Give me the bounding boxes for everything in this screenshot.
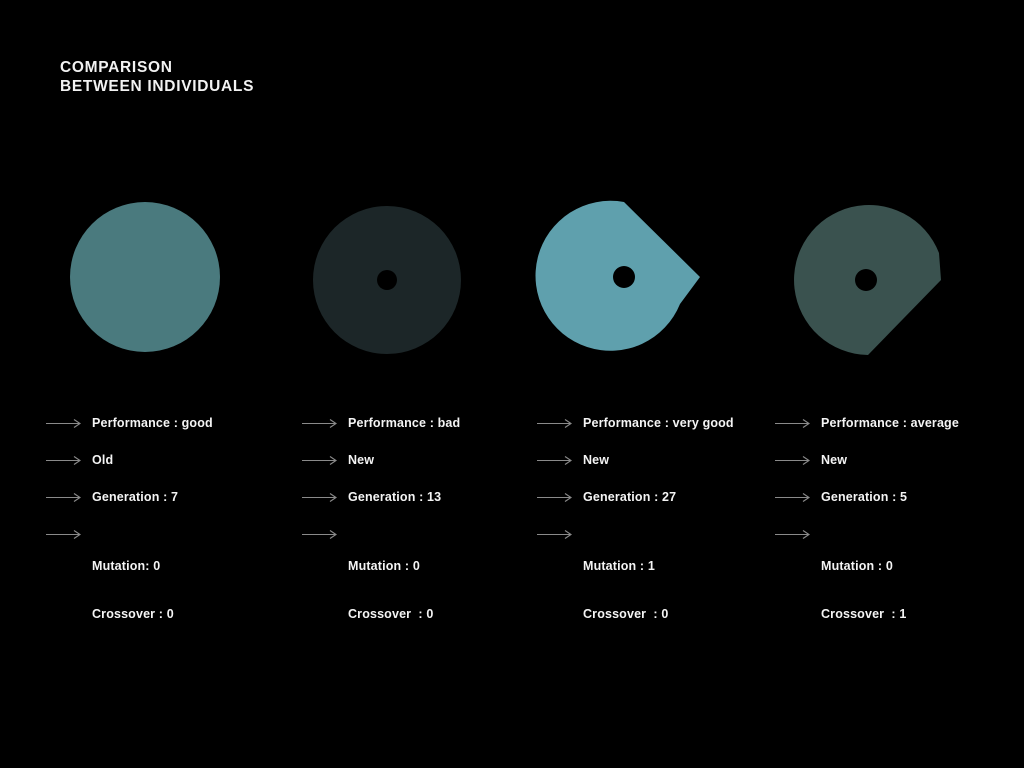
individual-3-shape <box>509 195 739 370</box>
individual-3-labels: Performance : very good New Generation :… <box>537 415 787 654</box>
individual-1-labels: Performance : good Old Generation : 7 Mu… <box>46 415 281 654</box>
individual-3-generation-row: Generation : 27 <box>537 489 787 509</box>
individual-2-mutation-text: Mutation : 0 <box>348 558 433 574</box>
long-right-arrow-icon <box>775 492 813 509</box>
individual-4-generation-row: Generation : 5 <box>775 489 1020 509</box>
long-right-arrow-icon <box>537 418 575 435</box>
individual-2-performance-text: Performance : bad <box>348 415 460 431</box>
individual-1-performance-text: Performance : good <box>92 415 213 431</box>
individual-3-genetics-row: Mutation : 1 Crossover : 0 <box>537 526 787 654</box>
individual-4-generation-text: Generation : 5 <box>821 489 907 505</box>
long-right-arrow-icon <box>537 492 575 509</box>
page-title-line-2: BETWEEN INDIVIDUALS <box>60 77 254 96</box>
individual-3-center-dot <box>613 266 635 288</box>
individual-3-generation-text: Generation : 27 <box>583 489 676 505</box>
individual-1-body-circle <box>70 202 220 352</box>
individual-1-generation-text: Generation : 7 <box>92 489 178 505</box>
individual-1-crossover-text: Crossover : 0 <box>92 606 174 622</box>
individual-2-age-row: New <box>302 452 537 472</box>
long-right-arrow-icon <box>537 455 575 472</box>
individual-2-labels: Performance : bad New Generation : 13 Mu… <box>302 415 537 654</box>
individual-3-performance-row: Performance : very good <box>537 415 787 435</box>
long-right-arrow-icon <box>46 529 84 546</box>
long-right-arrow-icon <box>775 529 813 546</box>
individual-4-performance-row: Performance : average <box>775 415 1020 435</box>
individual-4-crossover-text: Crossover : 1 <box>821 606 906 622</box>
individual-2-crossover-text: Crossover : 0 <box>348 606 433 622</box>
individual-3-age-row: New <box>537 452 787 472</box>
individual-4-performance-text: Performance : average <box>821 415 959 431</box>
page-title-line-1: COMPARISON <box>60 58 254 77</box>
individual-4-mutation-text: Mutation : 0 <box>821 558 906 574</box>
individual-1-age-text: Old <box>92 452 113 468</box>
long-right-arrow-icon <box>302 418 340 435</box>
long-right-arrow-icon <box>775 418 813 435</box>
individual-3-performance-text: Performance : very good <box>583 415 734 431</box>
individual-2-age-text: New <box>348 452 374 468</box>
individual-2-center-dot <box>377 270 397 290</box>
individual-1-figure[interactable] <box>30 195 260 370</box>
page-title: COMPARISON BETWEEN INDIVIDUALS <box>60 58 254 96</box>
individual-2-genetics-row: Mutation : 0 Crossover : 0 <box>302 526 537 654</box>
long-right-arrow-icon <box>46 418 84 435</box>
individual-4-labels: Performance : average New Generation : 5… <box>775 415 1020 654</box>
individual-3-figure[interactable] <box>509 195 739 370</box>
individual-1-age-row: Old <box>46 452 281 472</box>
individual-4-age-text: New <box>821 452 847 468</box>
individual-1-mutation-text: Mutation: 0 <box>92 558 174 574</box>
individual-3-age-text: New <box>583 452 609 468</box>
long-right-arrow-icon <box>302 492 340 509</box>
individual-2-generation-row: Generation : 13 <box>302 489 537 509</box>
individual-3-crossover-text: Crossover : 0 <box>583 606 668 622</box>
individual-4-figure[interactable] <box>751 195 981 370</box>
individual-2-shape <box>272 195 502 370</box>
individual-1-generation-row: Generation : 7 <box>46 489 281 509</box>
long-right-arrow-icon <box>46 492 84 509</box>
long-right-arrow-icon <box>302 529 340 546</box>
individual-2-generation-text: Generation : 13 <box>348 489 441 505</box>
individual-4-center-dot <box>855 269 877 291</box>
individual-1-performance-row: Performance : good <box>46 415 281 435</box>
individual-1-genetics-row: Mutation: 0 Crossover : 0 <box>46 526 281 654</box>
individual-4-shape <box>751 195 981 370</box>
individual-3-mutation-text: Mutation : 1 <box>583 558 668 574</box>
individual-1-shape <box>30 195 260 370</box>
long-right-arrow-icon <box>537 529 575 546</box>
long-right-arrow-icon <box>775 455 813 472</box>
individual-4-age-row: New <box>775 452 1020 472</box>
long-right-arrow-icon <box>302 455 340 472</box>
individual-4-genetics-row: Mutation : 0 Crossover : 1 <box>775 526 1020 654</box>
individual-2-performance-row: Performance : bad <box>302 415 537 435</box>
individual-2-figure[interactable] <box>272 195 502 370</box>
long-right-arrow-icon <box>46 455 84 472</box>
